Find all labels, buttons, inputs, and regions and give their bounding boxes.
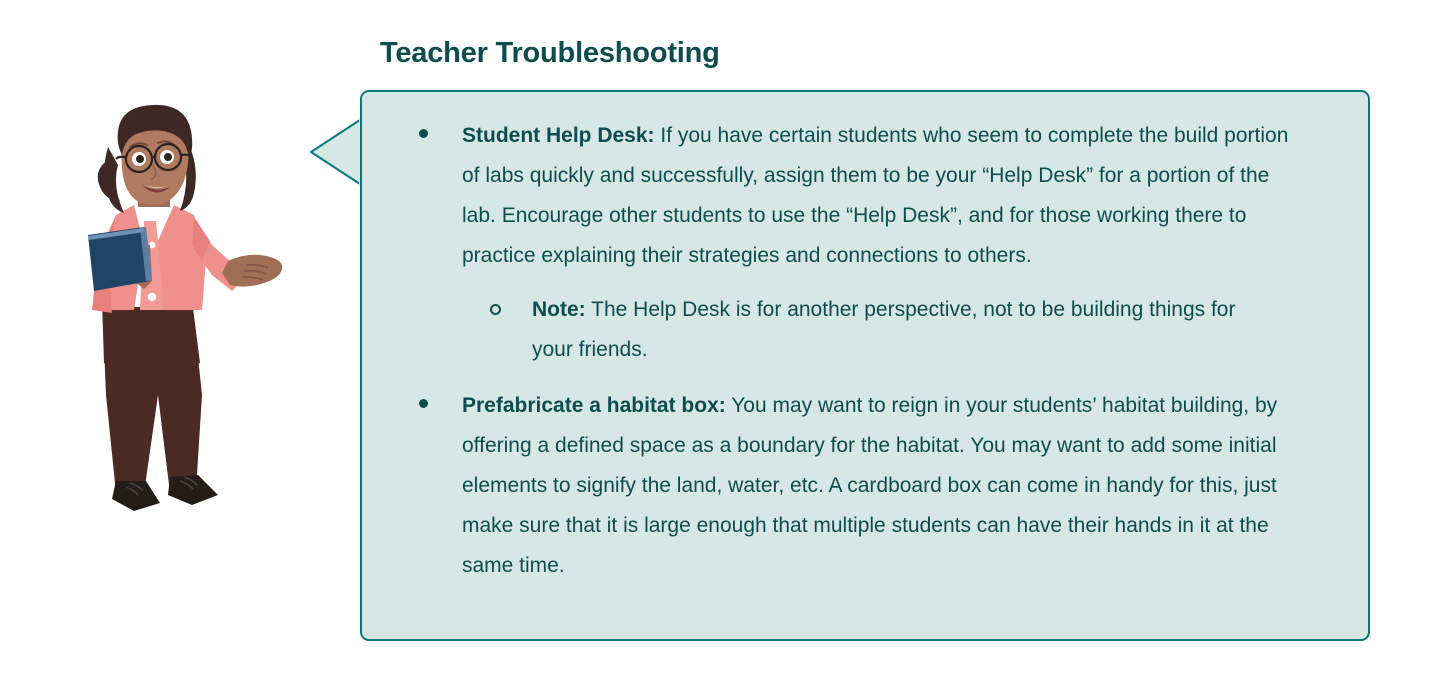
list-item-text: Student Help Desk: If you have certain s…: [462, 116, 1306, 276]
trousers-shape: [102, 300, 202, 493]
list-item-body: You may want to reign in your students’ …: [462, 394, 1277, 577]
teacher-troubleshooting-callout: Student Help Desk: If you have certain s…: [360, 90, 1370, 641]
list-item: Student Help Desk: If you have certain s…: [362, 116, 1328, 276]
list-item: Note: The Help Desk is for another persp…: [362, 290, 1328, 370]
teacher-character-illustration: [60, 95, 300, 545]
list-item-text: Prefabricate a habitat box: You may want…: [462, 386, 1306, 586]
bullet-disc-icon: [419, 129, 428, 138]
list-item: Prefabricate a habitat box: You may want…: [362, 386, 1328, 586]
list-item-body: The Help Desk is for another perspective…: [532, 298, 1235, 361]
list-item-lead: Student Help Desk:: [462, 124, 655, 147]
book-shape: [88, 227, 152, 291]
troubleshooting-list: Student Help Desk: If you have certain s…: [362, 92, 1368, 588]
bullet-disc-icon: [419, 399, 428, 408]
gesturing-hand-shape: [222, 255, 282, 287]
bullet-circle-icon: [490, 304, 501, 315]
list-item-lead: Prefabricate a habitat box:: [462, 394, 726, 417]
list-item-lead: Note:: [532, 298, 586, 321]
callout-tail: [309, 116, 365, 188]
page-title: Teacher Troubleshooting: [380, 37, 720, 70]
list-item-text: Note: The Help Desk is for another persp…: [532, 290, 1238, 370]
